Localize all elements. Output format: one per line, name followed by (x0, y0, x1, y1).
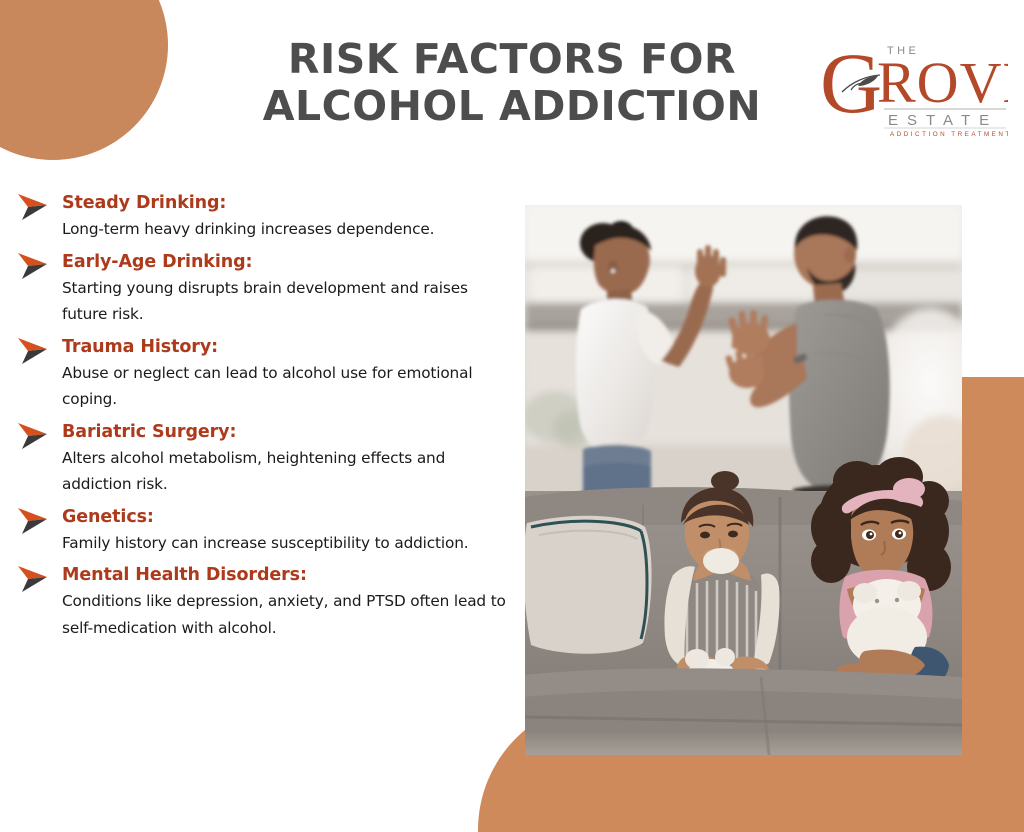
list-item: Bariatric Surgery: Alters alcohol metabo… (16, 419, 516, 498)
arrow-bullet-icon (16, 565, 50, 593)
logo-rove: ROVE (877, 50, 1008, 115)
risk-factor-title: Trauma History: (62, 334, 516, 360)
list-item: Steady Drinking: Long-term heavy drinkin… (16, 190, 516, 243)
page-title: RISK FACTORS FOR ALCOHOL ADDICTION (206, 36, 818, 130)
risk-factor-description: Long-term heavy drinking increases depen… (62, 216, 516, 243)
risk-factor-description: Family history can increase susceptibili… (62, 530, 516, 557)
risk-factor-title: Bariatric Surgery: (62, 419, 516, 445)
list-item: Trauma History: Abuse or neglect can lea… (16, 334, 516, 413)
list-item: Mental Health Disorders: Conditions like… (16, 562, 516, 641)
risk-factor-title: Genetics: (62, 504, 516, 530)
family-conflict-photo (525, 205, 962, 755)
arrow-bullet-icon (16, 422, 50, 450)
arrow-bullet-icon (16, 252, 50, 280)
risk-factor-description: Starting young disrupts brain developmen… (62, 275, 516, 328)
list-item: Genetics: Family history can increase su… (16, 504, 516, 557)
arrow-bullet-icon (16, 193, 50, 221)
risk-factor-description: Alters alcohol metabolism, heightening e… (62, 445, 516, 498)
risk-factor-description: Conditions like depression, anxiety, and… (62, 588, 516, 641)
the-grove-estate-logo[interactable]: G THE ROVE ESTATE ADDICTION TREATMENT (818, 32, 1008, 138)
risk-factor-description: Abuse or neglect can lead to alcohol use… (62, 360, 516, 413)
photo-pillow (525, 516, 652, 654)
risk-factor-title: Steady Drinking: (62, 190, 516, 216)
risk-factor-title: Mental Health Disorders: (62, 562, 516, 588)
arrow-bullet-icon (16, 507, 50, 535)
logo-estate: ESTATE (888, 112, 998, 129)
logo-tagline: ADDICTION TREATMENT (890, 131, 1008, 138)
logo-g-letter: G (820, 35, 882, 131)
risk-factor-title: Early-Age Drinking: (62, 249, 516, 275)
page-title-line-1: RISK FACTORS FOR (288, 35, 736, 83)
page-title-line-2: ALCOHOL ADDICTION (206, 83, 818, 130)
list-item: Early-Age Drinking: Starting young disru… (16, 249, 516, 328)
arrow-bullet-icon (16, 337, 50, 365)
risk-factor-list: Steady Drinking: Long-term heavy drinkin… (16, 190, 516, 647)
header: RISK FACTORS FOR ALCOHOL ADDICTION G THE… (0, 0, 1024, 168)
